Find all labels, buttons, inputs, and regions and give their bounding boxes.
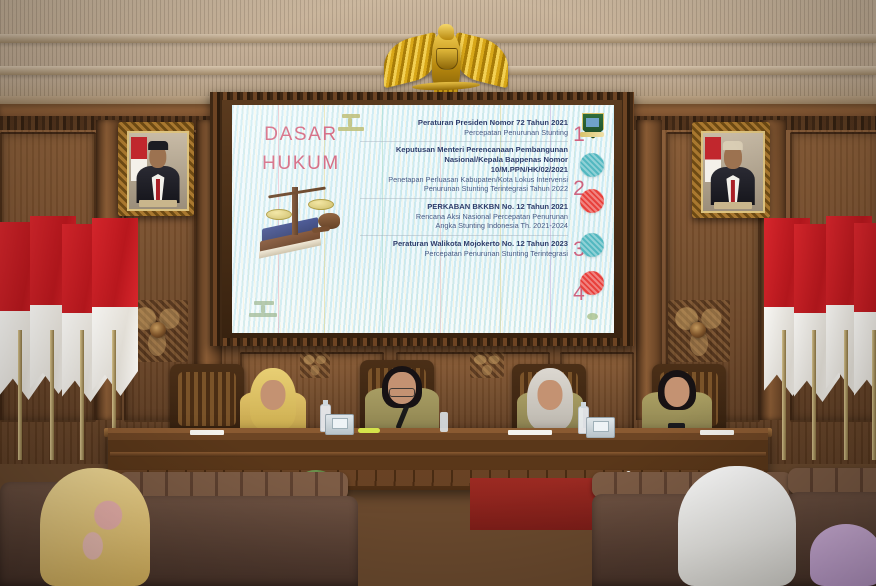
law-subtitle-line: Penetapan Perluasan Kabupaten/Kota Lokus… <box>360 175 568 184</box>
portrait-nameplate <box>139 200 176 207</box>
flag-pole <box>812 330 816 460</box>
meeting-hall-photo: DASAR HUKUM Peraturan Presiden <box>0 0 876 586</box>
scales-of-justice-icon <box>256 183 344 255</box>
water-bottle <box>440 412 448 432</box>
carved-rosette <box>150 322 166 338</box>
portrait-tie <box>156 179 160 202</box>
decor-dot-4 <box>580 271 604 295</box>
flag-pole <box>872 330 876 460</box>
carved-rosette <box>690 322 706 338</box>
law-title: Peraturan Presiden Nomor 72 Tahun 2021 <box>360 118 568 128</box>
garuda-wing-left <box>384 32 436 89</box>
law-title-line: Keputusan Menteri Perencanaan Pembanguna… <box>360 145 568 155</box>
panelist-1 <box>238 368 308 434</box>
projected-slide: DASAR HUKUM Peraturan Presiden <box>232 105 614 333</box>
portrait-peci <box>148 141 168 150</box>
garuda-wing-right <box>456 32 508 89</box>
vice-president-portrait <box>701 131 765 213</box>
slide-title-line2: HUKUM <box>246 150 356 179</box>
portrait-tie <box>731 180 735 203</box>
law-subtitle: Percepatan Penurunan Stunting <box>360 128 568 137</box>
portrait-nameplate <box>714 202 752 209</box>
law-title-line: 10/M.PPN/HK/02/2021 <box>360 165 568 175</box>
panelist-face <box>261 380 286 410</box>
flag-pole <box>18 330 22 460</box>
law-title: PERKABAN BKKBN No. 12 Tahun 2021 <box>360 202 568 212</box>
decor-dot-2 <box>580 189 604 213</box>
garuda-shield <box>436 48 458 70</box>
panelist-face <box>538 380 563 410</box>
law-subtitle: Percepatan Penurunan Stunting Terintegra… <box>360 249 568 258</box>
portrait-left <box>118 122 194 216</box>
document-paper <box>190 430 224 435</box>
audience-headscarf <box>810 524 876 586</box>
document-paper <box>508 430 552 435</box>
audience-member-2 <box>678 466 796 586</box>
law-item-2: Keputusan Menteri Perencanaan Pembanguna… <box>360 141 568 198</box>
flag-pole <box>844 330 848 460</box>
flag-pole <box>50 330 54 460</box>
document-paper <box>700 430 734 435</box>
president-portrait <box>127 131 189 211</box>
garuda-scroll <box>412 81 480 91</box>
portrait-peci <box>723 141 743 150</box>
audience-chair-back <box>788 468 876 494</box>
law-item-1: Peraturan Presiden Nomor 72 Tahun 2021 P… <box>360 115 568 141</box>
audience-member-3 <box>810 524 876 586</box>
law-subtitle-line: Angka Stunting Indonesia Th. 2021-2024 <box>360 221 568 230</box>
city-crest-ribbon <box>580 132 604 137</box>
decor-dot-3 <box>580 233 604 257</box>
flag-pole <box>80 330 84 460</box>
law-list: Peraturan Presiden Nomor 72 Tahun 2021 P… <box>360 115 568 262</box>
portrait-right <box>692 122 770 218</box>
panelist-4 <box>640 368 714 434</box>
decor-dot-1 <box>580 153 604 177</box>
gavel-handle <box>312 226 331 233</box>
slide-title-line1: DASAR <box>246 121 356 150</box>
audience-headscarf <box>678 466 796 586</box>
law-title: Peraturan Walikota Mojokerto No. 12 Tahu… <box>360 239 568 249</box>
panelist-2 <box>364 364 440 434</box>
scale-pan-right <box>308 199 334 210</box>
law-title-line: Nasional/Kepala Bappenas Nomor <box>360 155 568 165</box>
scale-pan-left <box>266 209 292 220</box>
desk-molding <box>110 452 766 457</box>
decor-dot-small <box>587 313 598 320</box>
law-subtitle-line: Rencana Aksi Nasional Percepatan Penurun… <box>360 212 568 221</box>
tissue-box <box>325 414 354 435</box>
law-item-4: Peraturan Walikota Mojokerto No. 12 Tahu… <box>360 235 568 262</box>
garuda-head <box>438 24 454 40</box>
tissue-box <box>586 417 615 438</box>
eyeglasses-icon <box>389 388 415 397</box>
audience-chair <box>118 496 358 586</box>
marker-pen <box>358 428 380 433</box>
law-item-3: PERKABAN BKKBN No. 12 Tahun 2021 Rencana… <box>360 198 568 235</box>
audience-member-1 <box>40 468 150 586</box>
flag-pole <box>782 330 786 460</box>
law-subtitle-line: Penurunan Stunting Terintegrasi Tahun 20… <box>360 184 568 193</box>
audience-headscarf <box>40 468 150 586</box>
panelist-face <box>665 377 690 407</box>
panelist-3 <box>514 368 586 434</box>
